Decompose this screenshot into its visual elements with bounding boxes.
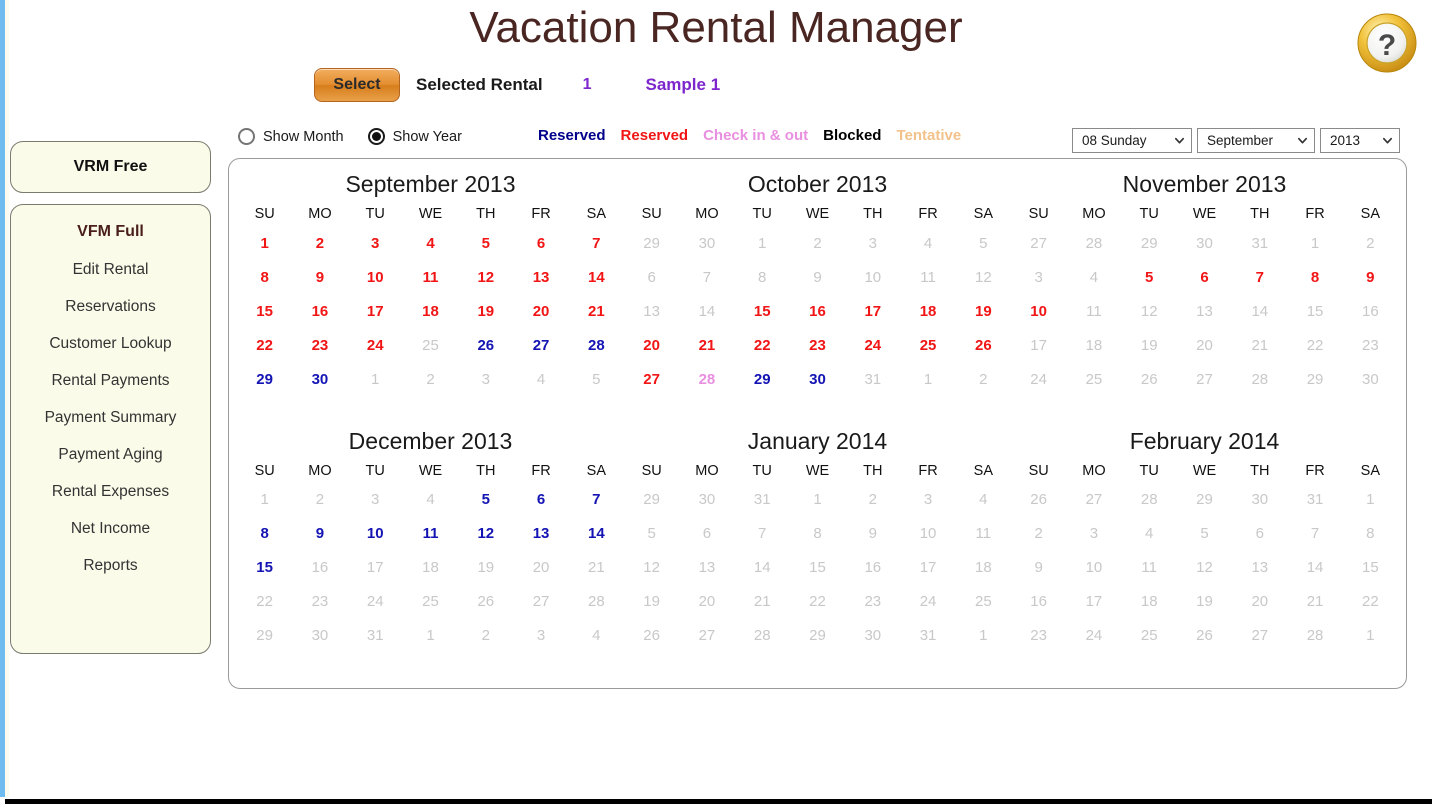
- legend-reserved-blue: Reserved: [538, 127, 606, 144]
- weekday-sa: SA: [1343, 206, 1398, 226]
- calendar-week-row: 19202122232425: [624, 585, 1011, 619]
- calendar-day-cell[interactable]: 28: [569, 585, 624, 619]
- calendar-day-cell[interactable]: 12: [624, 551, 679, 585]
- calendar-day-cell[interactable]: 30: [1343, 362, 1398, 396]
- calendar-month-title: October 2013: [624, 171, 1011, 198]
- calendar-day-cell[interactable]: 1: [403, 619, 458, 653]
- calendar-day-cell[interactable]: 17: [900, 551, 955, 585]
- calendar-day-cell[interactable]: 3: [1011, 260, 1066, 294]
- calendar-day-cell[interactable]: 29: [1287, 362, 1342, 396]
- calendar-day-cell[interactable]: 12: [458, 260, 513, 294]
- calendar-day-cell[interactable]: 24: [1066, 619, 1121, 653]
- calendar-day-cell[interactable]: 26: [1122, 362, 1177, 396]
- calendar-day-cell[interactable]: 6: [624, 260, 679, 294]
- calendar-day-cell[interactable]: 15: [237, 551, 292, 585]
- calendar-day-cell[interactable]: 2: [1343, 226, 1398, 260]
- radio-circle-icon: [238, 128, 255, 145]
- calendar-day-cell[interactable]: 28: [679, 362, 734, 396]
- legend-reserved-red: Reserved: [621, 127, 689, 144]
- calendar-day-cell[interactable]: 15: [237, 294, 292, 328]
- view-mode-radio-group: Show Month Show Year: [238, 128, 462, 145]
- sidebar-item-reservations[interactable]: Reservations: [11, 298, 210, 316]
- calendar-week-row: 2930311234: [624, 483, 1011, 517]
- weekday-tu: TU: [1122, 463, 1177, 483]
- month-select[interactable]: September: [1197, 128, 1315, 153]
- calendar-day-cell[interactable]: 14: [679, 294, 734, 328]
- calendar-day-cell[interactable]: 16: [790, 294, 845, 328]
- weekday-we: WE: [1177, 463, 1232, 483]
- calendar-week-row: 272829303112: [1011, 226, 1398, 260]
- calendar-day-cell[interactable]: 30: [845, 619, 900, 653]
- calendar-day-cell[interactable]: 18: [956, 551, 1011, 585]
- calendar-week-row: 24252627282930: [1011, 362, 1398, 396]
- calendar-day-cell[interactable]: 2: [956, 362, 1011, 396]
- calendar-day-cell[interactable]: 26: [956, 328, 1011, 362]
- calendar-months-grid: September 2013SUMOTUWETHFRSA123456789101…: [229, 159, 1406, 688]
- calendar-day-cell[interactable]: 29: [237, 619, 292, 653]
- calendar-day-cell[interactable]: 4: [1066, 260, 1121, 294]
- calendar-day-cell[interactable]: 7: [679, 260, 734, 294]
- calendar-day-cell[interactable]: 26: [458, 585, 513, 619]
- calendar-day-cell[interactable]: 14: [569, 517, 624, 551]
- calendar-day-cell[interactable]: 28: [1232, 362, 1287, 396]
- sidebar-item-rental-expenses[interactable]: Rental Expenses: [11, 483, 210, 501]
- calendar-day-cell[interactable]: 28: [1066, 226, 1121, 260]
- calendar-day-cell[interactable]: 23: [1343, 328, 1398, 362]
- calendar-week-row: 1234567: [237, 483, 624, 517]
- sidebar-item-rental-payments[interactable]: Rental Payments: [11, 372, 210, 390]
- chevron-down-icon: [1382, 135, 1393, 146]
- calendar-day-cell[interactable]: 2: [292, 483, 347, 517]
- weekday-su: SU: [1011, 206, 1066, 226]
- calendar-day-cell[interactable]: 22: [237, 328, 292, 362]
- calendar-weekday-header: SUMOTUWETHFRSA: [1011, 463, 1398, 483]
- weekday-mo: MO: [1066, 206, 1121, 226]
- calendar-day-cell[interactable]: 1: [790, 483, 845, 517]
- calendar-day-cell[interactable]: 5: [1177, 517, 1232, 551]
- calendar-day-cell[interactable]: 9: [1343, 260, 1398, 294]
- calendar-day-cell[interactable]: 7: [1232, 260, 1287, 294]
- calendar-week-row: 17181920212223: [1011, 328, 1398, 362]
- calendar-weekday-header: SUMOTUWETHFRSA: [1011, 206, 1398, 226]
- calendar-day-cell[interactable]: 15: [735, 294, 790, 328]
- radio-circle-selected-icon: [368, 128, 385, 145]
- weekday-th: TH: [1232, 206, 1287, 226]
- calendar-day-cell[interactable]: 24: [348, 585, 403, 619]
- radio-show-year-label: Show Year: [393, 129, 462, 145]
- calendar-day-cell[interactable]: 23: [845, 585, 900, 619]
- calendar-day-cell[interactable]: 12: [1122, 294, 1177, 328]
- sidebar-item-net-income[interactable]: Net Income: [11, 520, 210, 538]
- calendar-week-row: 22232425262728: [237, 585, 624, 619]
- calendar-day-cell[interactable]: 25: [403, 585, 458, 619]
- calendar-week-row: 13141516171819: [624, 294, 1011, 328]
- calendar-day-cell[interactable]: 21: [1232, 328, 1287, 362]
- chevron-down-icon: [1297, 135, 1308, 146]
- calendar-day-cell[interactable]: 24: [1011, 362, 1066, 396]
- calendar-day-cell[interactable]: 9: [292, 260, 347, 294]
- calendar-day-cell[interactable]: 7: [569, 483, 624, 517]
- calendar-day-cell[interactable]: 30: [292, 619, 347, 653]
- day-select[interactable]: 08 Sunday: [1072, 128, 1192, 153]
- select-button[interactable]: Select: [314, 68, 400, 102]
- calendar-day-cell[interactable]: 16: [292, 551, 347, 585]
- sidebar-vfm-full-panel: VFM Full Edit Rental Reservations Custom…: [10, 204, 211, 654]
- calendar-day-cell[interactable]: 29: [624, 226, 679, 260]
- calendar-day-cell[interactable]: 27: [679, 619, 734, 653]
- weekday-we: WE: [403, 463, 458, 483]
- weekday-su: SU: [1011, 463, 1066, 483]
- calendar-day-cell[interactable]: 26: [458, 328, 513, 362]
- weekday-sa: SA: [569, 206, 624, 226]
- weekday-th: TH: [845, 463, 900, 483]
- calendar-day-cell[interactable]: 10: [845, 260, 900, 294]
- weekday-tu: TU: [735, 206, 790, 226]
- calendar-day-cell[interactable]: 3: [458, 362, 513, 396]
- calendar-day-cell[interactable]: 19: [458, 551, 513, 585]
- calendar-day-cell[interactable]: 20: [679, 585, 734, 619]
- calendar-day-cell[interactable]: 11: [403, 260, 458, 294]
- calendar-day-cell[interactable]: 5: [569, 362, 624, 396]
- calendar-day-cell[interactable]: 2: [790, 226, 845, 260]
- calendar-day-cell[interactable]: 1: [956, 619, 1011, 653]
- calendar-day-cell[interactable]: 5: [458, 226, 513, 260]
- calendar-day-cell[interactable]: 18: [900, 294, 955, 328]
- calendar-day-cell[interactable]: 31: [900, 619, 955, 653]
- weekday-fr: FR: [1287, 206, 1342, 226]
- calendar-day-cell[interactable]: 16: [845, 551, 900, 585]
- calendar-day-cell[interactable]: 8: [1343, 517, 1398, 551]
- calendar-day-cell[interactable]: 29: [790, 619, 845, 653]
- weekday-sa: SA: [1343, 463, 1398, 483]
- calendar-day-cell[interactable]: 26: [1011, 483, 1066, 517]
- weekday-th: TH: [458, 206, 513, 226]
- calendar-month: November 2013SUMOTUWETHFRSA2728293031123…: [1011, 165, 1398, 422]
- calendar-day-cell[interactable]: 5: [1122, 260, 1177, 294]
- calendar-day-cell[interactable]: 15: [1343, 551, 1398, 585]
- calendar-day-cell[interactable]: 22: [1343, 585, 1398, 619]
- calendar-day-cell[interactable]: 5: [624, 517, 679, 551]
- calendar-weekday-header: SUMOTUWETHFRSA: [624, 463, 1011, 483]
- weekday-mo: MO: [679, 463, 734, 483]
- calendar-day-cell[interactable]: 20: [513, 294, 568, 328]
- calendar-day-cell[interactable]: 31: [1232, 226, 1287, 260]
- calendar-day-cell[interactable]: 30: [292, 362, 347, 396]
- calendar-day-cell[interactable]: 20: [624, 328, 679, 362]
- calendar-day-cell[interactable]: 4: [403, 483, 458, 517]
- calendar-day-cell[interactable]: 8: [237, 517, 292, 551]
- calendar-day-cell[interactable]: 18: [1122, 585, 1177, 619]
- calendar-day-cell[interactable]: 19: [458, 294, 513, 328]
- calendar-day-cell[interactable]: 1: [900, 362, 955, 396]
- calendar-weekday-header: SUMOTUWETHFRSA: [237, 206, 624, 226]
- calendar-day-cell[interactable]: 19: [956, 294, 1011, 328]
- calendar-day-cell[interactable]: 1: [1343, 483, 1398, 517]
- calendar-day-cell[interactable]: 18: [1066, 328, 1121, 362]
- calendar-day-cell[interactable]: 31: [735, 483, 790, 517]
- calendar-month-title: February 2014: [1011, 428, 1398, 455]
- calendar-week-row: 3456789: [1011, 260, 1398, 294]
- calendar-week-row: 6789101112: [624, 260, 1011, 294]
- day-select-value: 08 Sunday: [1082, 133, 1147, 148]
- calendar-day-cell[interactable]: 13: [1232, 551, 1287, 585]
- calendar-day-cell[interactable]: 30: [790, 362, 845, 396]
- chevron-down-icon: [1174, 135, 1185, 146]
- calendar-day-cell[interactable]: 19: [1122, 328, 1177, 362]
- calendar-day-cell[interactable]: 6: [1232, 517, 1287, 551]
- calendar-day-cell[interactable]: 8: [1287, 260, 1342, 294]
- calendar-day-cell[interactable]: 13: [513, 260, 568, 294]
- calendar-day-cell[interactable]: 6: [679, 517, 734, 551]
- weekday-fr: FR: [1287, 463, 1342, 483]
- calendar-week-row: 293012345: [624, 226, 1011, 260]
- calendar-day-cell[interactable]: 18: [403, 551, 458, 585]
- weekday-su: SU: [237, 463, 292, 483]
- page-title: Vacation Rental Manager: [0, 3, 1432, 53]
- calendar-day-cell[interactable]: 4: [900, 226, 955, 260]
- calendar-day-cell[interactable]: 21: [569, 551, 624, 585]
- calendar-day-cell[interactable]: 31: [348, 619, 403, 653]
- calendar-day-cell[interactable]: 11: [1122, 551, 1177, 585]
- calendar-day-cell[interactable]: 12: [458, 517, 513, 551]
- calendar-day-cell[interactable]: 10: [1011, 294, 1066, 328]
- calendar-month-title: November 2013: [1011, 171, 1398, 198]
- calendar-day-cell[interactable]: 17: [348, 294, 403, 328]
- date-selector-group: 08 Sunday September 2013: [1072, 128, 1400, 153]
- sidebar-item-customer-lookup[interactable]: Customer Lookup: [11, 335, 210, 353]
- weekday-tu: TU: [348, 463, 403, 483]
- calendar-day-cell[interactable]: 27: [1066, 483, 1121, 517]
- calendar-day-cell[interactable]: 6: [513, 483, 568, 517]
- calendar-day-cell[interactable]: 11: [1066, 294, 1121, 328]
- calendar-day-cell[interactable]: 2: [458, 619, 513, 653]
- calendar-day-cell[interactable]: 22: [790, 585, 845, 619]
- calendar-day-cell[interactable]: 29: [1122, 226, 1177, 260]
- year-select[interactable]: 2013: [1320, 128, 1400, 153]
- calendar-month: October 2013SUMOTUWETHFRSA29301234567891…: [624, 165, 1011, 422]
- calendar-month: December 2013SUMOTUWETHFRSA1234567891011…: [237, 422, 624, 679]
- calendar-day-cell[interactable]: 29: [735, 362, 790, 396]
- calendar-day-cell[interactable]: 19: [624, 585, 679, 619]
- calendar-day-cell[interactable]: 10: [900, 517, 955, 551]
- calendar-day-cell[interactable]: 29: [237, 362, 292, 396]
- calendar-day-cell[interactable]: 22: [735, 328, 790, 362]
- calendar-day-cell[interactable]: 26: [1177, 619, 1232, 653]
- calendar-day-cell[interactable]: 12: [1177, 551, 1232, 585]
- calendar-day-cell[interactable]: 5: [458, 483, 513, 517]
- calendar-week-row: 2627282930311: [1011, 483, 1398, 517]
- calendar-day-cell[interactable]: 13: [624, 294, 679, 328]
- calendar-day-cell[interactable]: 17: [1011, 328, 1066, 362]
- calendar-day-cell[interactable]: 7: [735, 517, 790, 551]
- calendar-day-cell[interactable]: 14: [735, 551, 790, 585]
- calendar-day-cell[interactable]: 24: [845, 328, 900, 362]
- calendar-day-cell[interactable]: 17: [1066, 585, 1121, 619]
- calendar-day-cell[interactable]: 3: [900, 483, 955, 517]
- calendar-day-cell[interactable]: 23: [292, 585, 347, 619]
- calendar-day-cell[interactable]: 3: [513, 619, 568, 653]
- calendar-day-cell[interactable]: 17: [348, 551, 403, 585]
- calendar-day-cell[interactable]: 11: [900, 260, 955, 294]
- calendar-day-cell[interactable]: 11: [956, 517, 1011, 551]
- sidebar-item-edit-rental[interactable]: Edit Rental: [11, 261, 210, 279]
- calendar-day-cell[interactable]: 21: [735, 585, 790, 619]
- calendar-day-cell[interactable]: 6: [513, 226, 568, 260]
- calendar-day-cell[interactable]: 8: [237, 260, 292, 294]
- calendar-day-cell[interactable]: 1: [348, 362, 403, 396]
- selected-rental-number: 1: [583, 76, 592, 94]
- calendar-day-cell[interactable]: 29: [1177, 483, 1232, 517]
- calendar-day-cell[interactable]: 1: [735, 226, 790, 260]
- weekday-su: SU: [624, 206, 679, 226]
- weekday-sa: SA: [956, 206, 1011, 226]
- sidebar-item-vrm-free[interactable]: VRM Free: [10, 141, 211, 193]
- calendar-day-cell[interactable]: 27: [513, 585, 568, 619]
- calendar-day-cell[interactable]: 8: [735, 260, 790, 294]
- calendar-day-cell[interactable]: 28: [1287, 619, 1342, 653]
- calendar-day-cell[interactable]: 30: [1232, 483, 1287, 517]
- calendar-day-cell[interactable]: 13: [1177, 294, 1232, 328]
- calendar-day-cell[interactable]: 18: [403, 294, 458, 328]
- calendar-day-cell[interactable]: 1: [237, 226, 292, 260]
- calendar-day-cell[interactable]: 17: [845, 294, 900, 328]
- calendar-day-cell[interactable]: 2: [845, 483, 900, 517]
- calendar-day-cell[interactable]: 28: [1122, 483, 1177, 517]
- calendar-day-cell[interactable]: 15: [1287, 294, 1342, 328]
- calendar-day-cell[interactable]: 25: [403, 328, 458, 362]
- question-mark-help-icon[interactable]: ?: [1356, 12, 1418, 74]
- radio-show-month[interactable]: Show Month: [238, 128, 344, 145]
- calendar-week-row: 16171819202122: [1011, 585, 1398, 619]
- calendar-day-cell[interactable]: 23: [790, 328, 845, 362]
- calendar-day-cell[interactable]: 10: [348, 517, 403, 551]
- calendar-day-cell[interactable]: 16: [292, 294, 347, 328]
- weekday-fr: FR: [900, 463, 955, 483]
- svg-text:?: ?: [1378, 29, 1396, 62]
- calendar-day-cell[interactable]: 2: [292, 226, 347, 260]
- calendar-day-cell[interactable]: 28: [735, 619, 790, 653]
- calendar-day-cell[interactable]: 25: [900, 328, 955, 362]
- calendar-day-cell[interactable]: 25: [1122, 619, 1177, 653]
- calendar-day-cell[interactable]: 9: [845, 517, 900, 551]
- calendar-day-cell[interactable]: 6: [1177, 260, 1232, 294]
- calendar-day-cell[interactable]: 3: [348, 226, 403, 260]
- calendar-week-row: 891011121314: [237, 517, 624, 551]
- calendar-day-cell[interactable]: 31: [1287, 483, 1342, 517]
- calendar-day-cell[interactable]: 20: [513, 551, 568, 585]
- calendar-day-cell[interactable]: 3: [1066, 517, 1121, 551]
- calendar-day-cell[interactable]: 28: [569, 328, 624, 362]
- calendar-week-row: 567891011: [624, 517, 1011, 551]
- calendar-day-cell[interactable]: 27: [1011, 226, 1066, 260]
- weekday-mo: MO: [292, 463, 347, 483]
- calendar-day-cell[interactable]: 10: [348, 260, 403, 294]
- calendar-day-cell[interactable]: 14: [1232, 294, 1287, 328]
- calendar-day-cell[interactable]: 13: [679, 551, 734, 585]
- calendar-day-cell[interactable]: 2: [403, 362, 458, 396]
- calendar-day-cell[interactable]: 23: [292, 328, 347, 362]
- calendar-day-cell[interactable]: 21: [679, 328, 734, 362]
- calendar-week-row: 9101112131415: [1011, 551, 1398, 585]
- radio-show-month-label: Show Month: [263, 129, 344, 145]
- sidebar-item-payment-summary[interactable]: Payment Summary: [11, 409, 210, 427]
- calendar-day-cell[interactable]: 27: [1177, 362, 1232, 396]
- calendar-day-cell[interactable]: 7: [569, 226, 624, 260]
- calendar-day-cell[interactable]: 27: [513, 328, 568, 362]
- calendar-day-cell[interactable]: 27: [624, 362, 679, 396]
- calendar-day-cell[interactable]: 16: [1011, 585, 1066, 619]
- calendar-day-cell[interactable]: 12: [956, 260, 1011, 294]
- calendar-day-cell[interactable]: 5: [956, 226, 1011, 260]
- calendar-day-cell[interactable]: 23: [1011, 619, 1066, 653]
- calendar-day-cell[interactable]: 22: [1287, 328, 1342, 362]
- calendar-day-cell[interactable]: 4: [956, 483, 1011, 517]
- calendar-day-cell[interactable]: 25: [1066, 362, 1121, 396]
- calendar-day-cell[interactable]: 4: [513, 362, 568, 396]
- calendar-day-cell[interactable]: 27: [1232, 619, 1287, 653]
- calendar-day-cell[interactable]: 13: [513, 517, 568, 551]
- calendar-day-cell[interactable]: 14: [569, 260, 624, 294]
- legend-tentative: Tentative: [896, 127, 961, 144]
- calendar-day-cell[interactable]: 31: [845, 362, 900, 396]
- calendar-day-cell[interactable]: 3: [845, 226, 900, 260]
- calendar-week-row: 891011121314: [237, 260, 624, 294]
- sidebar-item-reports[interactable]: Reports: [11, 557, 210, 575]
- sidebar-item-payment-aging[interactable]: Payment Aging: [11, 446, 210, 464]
- radio-show-year[interactable]: Show Year: [368, 128, 462, 145]
- calendar-day-cell[interactable]: 24: [900, 585, 955, 619]
- calendar-day-cell[interactable]: 29: [624, 483, 679, 517]
- calendar-day-cell[interactable]: 9: [292, 517, 347, 551]
- calendar-day-cell[interactable]: 1: [1343, 619, 1398, 653]
- calendar-day-cell[interactable]: 9: [1011, 551, 1066, 585]
- calendar-day-cell[interactable]: 8: [790, 517, 845, 551]
- calendar-week-row: 2324252627281: [1011, 619, 1398, 653]
- calendar-day-cell[interactable]: 10: [1066, 551, 1121, 585]
- calendar-day-cell[interactable]: 20: [1177, 328, 1232, 362]
- calendar-day-cell[interactable]: 7: [1287, 517, 1342, 551]
- calendar-day-cell[interactable]: 11: [403, 517, 458, 551]
- calendar-day-cell[interactable]: 22: [237, 585, 292, 619]
- calendar-day-cell[interactable]: 24: [348, 328, 403, 362]
- app-window: Vacation Rental Manager ? Select: [0, 0, 1432, 810]
- calendar-day-cell[interactable]: 2: [1011, 517, 1066, 551]
- calendar-day-cell[interactable]: 16: [1343, 294, 1398, 328]
- weekday-we: WE: [1177, 206, 1232, 226]
- calendar-day-cell[interactable]: 26: [624, 619, 679, 653]
- bottom-border-bar: [5, 799, 1432, 804]
- calendar-day-cell[interactable]: 21: [1287, 585, 1342, 619]
- weekday-th: TH: [845, 206, 900, 226]
- calendar-day-cell[interactable]: 30: [1177, 226, 1232, 260]
- calendar-day-cell[interactable]: 4: [569, 619, 624, 653]
- calendar-day-cell[interactable]: 3: [348, 483, 403, 517]
- calendar-day-cell[interactable]: 15: [790, 551, 845, 585]
- calendar-day-cell[interactable]: 9: [790, 260, 845, 294]
- calendar-day-cell[interactable]: 4: [403, 226, 458, 260]
- calendar-day-cell[interactable]: 1: [237, 483, 292, 517]
- calendar-day-cell[interactable]: 21: [569, 294, 624, 328]
- calendar-day-cell[interactable]: 30: [679, 483, 734, 517]
- calendar-day-cell[interactable]: 19: [1177, 585, 1232, 619]
- calendar-day-cell[interactable]: 1: [1287, 226, 1342, 260]
- calendar-day-cell[interactable]: 30: [679, 226, 734, 260]
- month-select-value: September: [1207, 133, 1273, 148]
- calendar-day-cell[interactable]: 20: [1232, 585, 1287, 619]
- calendar-day-cell[interactable]: 14: [1287, 551, 1342, 585]
- calendar-day-cell[interactable]: 4: [1122, 517, 1177, 551]
- calendar-day-cell[interactable]: 25: [956, 585, 1011, 619]
